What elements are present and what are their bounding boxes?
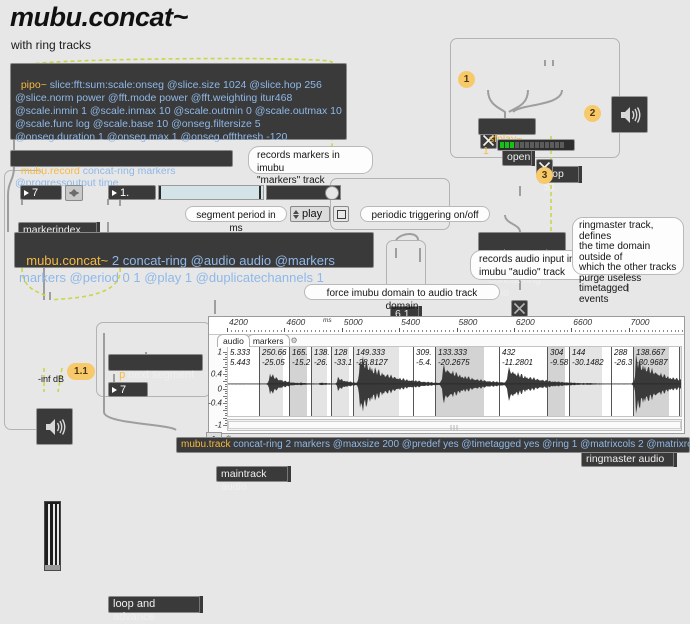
object-pipo-name: pipo~ [21, 79, 47, 91]
next-segment-value: 7 [120, 384, 126, 396]
ruler-tick [281, 330, 282, 332]
toggle-square-icon [337, 210, 346, 219]
ruler-tick [346, 330, 347, 332]
ruler-tick-label: 4600 [286, 317, 305, 327]
ruler-tick [522, 330, 523, 332]
page-title: mubu.concat~ [10, 2, 188, 33]
slider-track-1 [48, 504, 50, 568]
message-maintrack-audio[interactable]: maintrack audio [216, 466, 291, 482]
ruler-tick [242, 330, 243, 332]
ruler-tick [579, 330, 580, 332]
ruler-tick [380, 330, 381, 332]
object-mubu-track-args: concat-ring 2 markers @maxsize 200 @pred… [233, 439, 690, 450]
ezdac-button-bottom[interactable] [36, 408, 73, 445]
ruler-tick [250, 330, 251, 332]
ruler-tick [273, 330, 274, 332]
message-loop-advance-label: loop and advance [113, 598, 155, 623]
ruler-tick [395, 330, 396, 332]
play-dropdown[interactable]: play [290, 206, 330, 222]
comment-ringmaster-desc: ringmaster track, defines the time domai… [572, 217, 684, 275]
ruler-tick [430, 330, 431, 332]
ruler-tick [625, 330, 626, 332]
ruler-tick [238, 330, 239, 332]
number-arrow-icon [112, 190, 117, 196]
next-segment-number-box[interactable]: 7 [108, 382, 148, 397]
y-tick-label: 0 [218, 384, 222, 393]
toggle-record[interactable] [511, 300, 528, 317]
slider-handle-right[interactable] [259, 186, 261, 199]
meter-led [515, 142, 519, 148]
ruler-tick [632, 330, 633, 332]
object-sfplay[interactable]: sfplay~ 1 [478, 118, 536, 135]
ruler-tick [449, 330, 450, 332]
label-inf-db: -inf dB [38, 374, 64, 384]
step-1-label: 1 [464, 74, 470, 85]
ruler-tick [548, 330, 549, 332]
y-tick-label: -1 [215, 421, 222, 430]
ruler-tick [629, 328, 630, 332]
ruler-tick [552, 330, 553, 332]
ruler-tick [648, 330, 649, 332]
object-mubu-track[interactable]: mubu.track concat-ring 2 markers @maxsiz… [176, 437, 690, 453]
ruler-tick [261, 330, 262, 332]
ruler-tick [571, 328, 572, 332]
ruler-tick-label: 5000 [344, 317, 363, 327]
ruler-tick [288, 330, 289, 332]
ruler-tick [296, 330, 297, 332]
object-mubu-concat[interactable]: mubu.concat~ 2 concat-ring @audio audio … [14, 232, 374, 268]
meter-led [530, 142, 534, 148]
ruler-tick [369, 330, 370, 332]
ruler-tick [502, 330, 503, 332]
meter-led [520, 142, 524, 148]
ruler-tick [682, 330, 683, 332]
track-tabs[interactable]: audio markers ⚙ [217, 334, 298, 346]
ruler-tick [304, 330, 305, 332]
ruler-tick [483, 330, 484, 332]
ruler-tick [269, 330, 270, 332]
ruler-tick [472, 330, 473, 332]
comment-force-domain: force imubu domain to audio track domain [304, 284, 500, 300]
scrollbar-grip-icon [450, 425, 459, 430]
ruler-tick [311, 330, 312, 332]
ruler-tick-label: 6600 [573, 317, 592, 327]
y-tick-label: 0.4 [211, 369, 222, 378]
ruler-tick [437, 330, 438, 332]
ruler-tick [300, 330, 301, 332]
ruler-tick [403, 330, 404, 332]
ruler-tick [342, 328, 343, 332]
ruler-tick [235, 330, 236, 332]
play-dropdown-value: play [302, 208, 322, 220]
ruler-tick [495, 330, 496, 332]
message-open-label: open [507, 151, 530, 163]
ruler-tick [678, 330, 679, 332]
tab-markers[interactable]: markers [247, 334, 290, 347]
comment-segment-period: segment period in ms [185, 206, 287, 222]
meter-led [500, 142, 504, 148]
comment-markers-track: records markers in imubu "markers" track [248, 146, 373, 174]
message-maintrack-label: maintrack audio [221, 468, 267, 493]
ruler-tick [606, 330, 607, 332]
meter-led [555, 142, 559, 148]
page-subtitle: with ring tracks [11, 38, 91, 52]
meter-led [535, 142, 539, 148]
ruler-tick [384, 330, 385, 332]
ruler-tick [334, 330, 335, 332]
panel-left-flow [4, 170, 44, 430]
ruler-tick [391, 330, 392, 332]
gear-icon[interactable]: ⚙ [291, 336, 298, 345]
ruler-tick [445, 330, 446, 332]
markerindex-spinner[interactable] [65, 185, 83, 201]
ruler-tick [617, 330, 618, 332]
ruler-tick [414, 330, 415, 332]
ruler-tick [426, 330, 427, 332]
period-value: 1. [120, 187, 129, 199]
ruler-tick [663, 330, 664, 332]
ezdac-button-top[interactable] [611, 96, 648, 133]
ruler-tick [372, 330, 373, 332]
ruler-tick [319, 330, 320, 332]
ruler-tick [640, 330, 641, 332]
ruler-tick [525, 330, 526, 332]
periodic-toggle[interactable] [333, 206, 349, 222]
period-dial[interactable] [325, 186, 339, 200]
object-mubu-record[interactable]: mubu.record concat-ring markers @progres… [10, 150, 233, 167]
ruler-tick [529, 330, 530, 332]
ruler-tick [407, 330, 408, 332]
ruler-tick [533, 330, 534, 332]
object-pipo[interactable]: pipo~ slice:fft:sum:scale:onseg @slice.s… [10, 63, 347, 140]
ruler-tick [610, 330, 611, 332]
gain-step-label: 1.1 [74, 366, 88, 377]
ruler-tick [307, 330, 308, 332]
ruler-tick [357, 330, 358, 332]
waveform-trace [228, 347, 682, 417]
gain-slider[interactable] [44, 501, 61, 571]
ruler-tick [323, 330, 324, 332]
ruler-tick [476, 330, 477, 332]
amplitude-axis: 10.40-0.4-1 [209, 346, 227, 417]
slider-track-3 [57, 504, 59, 568]
ruler-tick [675, 330, 676, 332]
ruler-tick [338, 330, 339, 332]
message-ringmaster-label: ringmaster audio [586, 453, 664, 465]
step-badge-2: 2 [584, 105, 601, 122]
speaker-icon [44, 417, 66, 437]
object-p-next-segment[interactable]: pp next segment next segment [108, 354, 203, 371]
meter-led [525, 142, 529, 148]
ruler-tick [411, 330, 412, 332]
ruler-tick [399, 328, 400, 332]
period-number-box[interactable]: 1. [108, 185, 156, 200]
comment-periodic-trigger: periodic triggering on/off [360, 206, 490, 222]
ruler-tick [388, 330, 389, 332]
ruler-tick [541, 330, 542, 332]
waveform-canvas[interactable]: 5.3335.443250.66-25.05165.-15.2138.-26.1… [227, 346, 682, 417]
ruler-tick [564, 330, 565, 332]
gain-step-badge: 1.1 [67, 363, 95, 380]
ruler-tick-label: 4200 [229, 317, 248, 327]
ruler-tick [613, 330, 614, 332]
ruler-tick [560, 330, 561, 332]
ruler-tick [361, 330, 362, 332]
meter-led [545, 142, 549, 148]
object-mubu-record-name: mubu.record [21, 165, 80, 177]
ruler-tick [418, 330, 419, 332]
period-range-slider[interactable] [158, 185, 264, 200]
markerindex-value: 7 [32, 187, 38, 199]
ruler-tick-label: 7000 [631, 317, 650, 327]
spinner-down-icon[interactable] [69, 192, 79, 197]
ruler-tick [598, 330, 599, 332]
updown-arrows-icon [293, 210, 299, 219]
ruler-tick [464, 330, 465, 332]
ruler-tick [652, 330, 653, 332]
ruler-tick [460, 330, 461, 332]
object-mubu-track-name: mubu.track [181, 439, 230, 450]
meter-led [560, 142, 564, 148]
ruler-tick [537, 330, 538, 332]
ruler-tick [590, 330, 591, 332]
ruler-tick [514, 328, 515, 332]
ruler-tick [468, 330, 469, 332]
ruler-tick [441, 330, 442, 332]
ruler-tick [376, 330, 377, 332]
y-tick-label: 1 [218, 348, 222, 357]
ruler-tick [583, 330, 584, 332]
meter-led [550, 142, 554, 148]
y-tick-label: -0.4 [208, 399, 222, 408]
x-icon [513, 302, 526, 315]
ruler-tick [258, 330, 259, 332]
ruler-tick [453, 330, 454, 332]
speaker-icon [619, 105, 641, 125]
message-open[interactable]: open [502, 149, 535, 166]
ruler-tick [265, 330, 266, 332]
ruler-tick [330, 330, 331, 332]
ruler-tick [621, 330, 622, 332]
ruler-tick [246, 330, 247, 332]
ruler-tick [315, 330, 316, 332]
ruler-tick [510, 330, 511, 332]
horizontal-scrollbar[interactable] [227, 419, 682, 431]
ruler-tick [231, 330, 232, 332]
ruler-tick [479, 330, 480, 332]
meter-led [510, 142, 514, 148]
ruler-tick [659, 330, 660, 332]
scrollbar-thumb[interactable] [228, 421, 681, 429]
ruler-tick [292, 330, 293, 332]
ruler-tick-label: 5800 [459, 317, 478, 327]
message-ringmaster-audio[interactable]: ringmaster audio [581, 451, 677, 467]
ruler-tick [636, 330, 637, 332]
slider-handle-left[interactable] [159, 186, 161, 199]
ruler-tick [434, 330, 435, 332]
ruler-tick [457, 328, 458, 332]
ruler-tick [227, 328, 228, 332]
ruler-tick [349, 330, 350, 332]
playback-meter [497, 139, 575, 151]
ruler-tick [602, 330, 603, 332]
ruler-tick [671, 330, 672, 332]
ruler-tick [518, 330, 519, 332]
ruler-tick [587, 330, 588, 332]
message-loop-and-advance[interactable]: loop and advance [108, 596, 203, 613]
ruler-ticks [209, 328, 684, 332]
panel-six-one [386, 240, 426, 290]
ruler-tick [567, 330, 568, 332]
ruler-tick-label: 6200 [516, 317, 535, 327]
meter-led [540, 142, 544, 148]
step-badge-1: 1 [458, 71, 475, 88]
step-2-label: 2 [590, 108, 596, 119]
ruler-tick [655, 330, 656, 332]
ruler-tick [556, 330, 557, 332]
ruler-tick [353, 330, 354, 332]
ruler-tick [326, 330, 327, 332]
step-3-label: 3 [542, 170, 548, 181]
ruler-tick [499, 330, 500, 332]
markerindex-number-box[interactable]: 7 [20, 185, 62, 200]
ruler-tick [277, 330, 278, 332]
ruler-tick-label: 5400 [401, 317, 420, 327]
ruler-tick [491, 330, 492, 332]
ruler-tick [487, 330, 488, 332]
ruler-tick [575, 330, 576, 332]
time-ruler: ms 42004600500054005800620066007000 [209, 317, 684, 335]
object-mubu-concat-name: mubu.concat~ [26, 253, 108, 268]
ruler-unit-label: ms [323, 317, 332, 324]
ruler-tick [365, 330, 366, 332]
meter-led [505, 142, 509, 148]
ruler-tick [284, 328, 285, 332]
step-badge-3: 3 [536, 167, 553, 184]
ruler-tick [644, 330, 645, 332]
ruler-tick [544, 330, 545, 332]
ruler-tick [667, 330, 668, 332]
number-arrow-icon [112, 387, 117, 393]
ruler-tick [254, 330, 255, 332]
number-arrow-icon [24, 190, 29, 196]
slider-track-2 [53, 504, 55, 568]
ruler-tick [594, 330, 595, 332]
slider-knob[interactable] [45, 565, 60, 570]
imubu-viewer[interactable]: ms 42004600500054005800620066007000 audi… [208, 316, 685, 434]
ruler-tick [506, 330, 507, 332]
ruler-tick [422, 330, 423, 332]
object-pipo-args: slice:fft:sum:scale:onseg @slice.size 10… [15, 79, 345, 143]
tab-audio[interactable]: audio [217, 334, 250, 347]
